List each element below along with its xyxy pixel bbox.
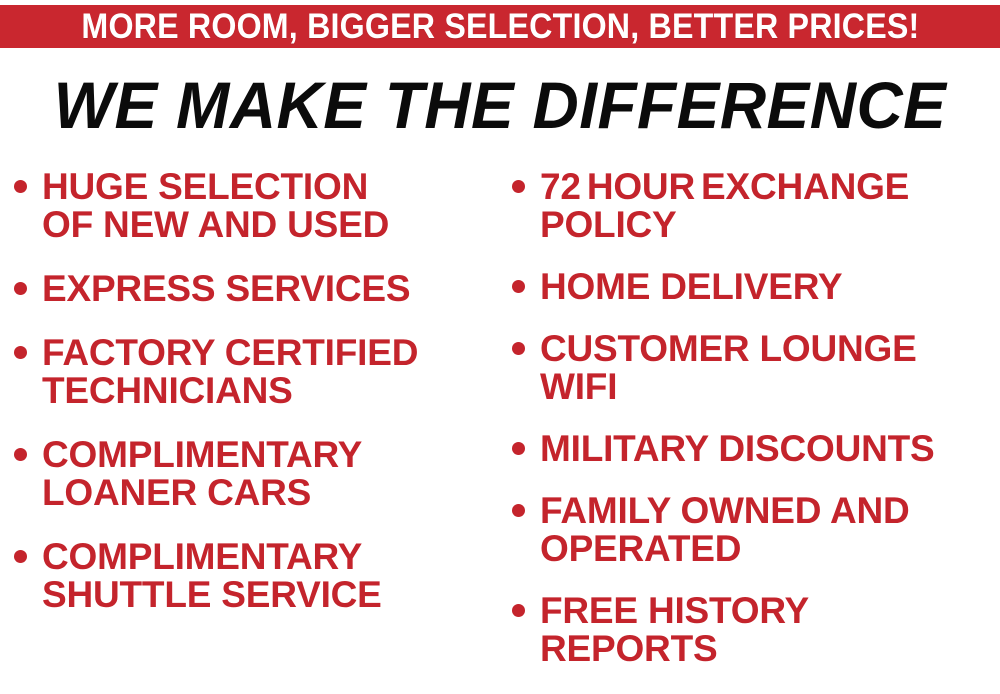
list-item-label: HOME DELIVERY xyxy=(540,268,1000,306)
list-item: FREE HISTORY REPORTS xyxy=(512,592,1000,668)
bullet-dot-icon xyxy=(512,280,525,293)
list-item: HUGE SELECTION OF NEW AND USED xyxy=(14,168,500,244)
benefits-columns: HUGE SELECTION OF NEW AND USED EXPRESS S… xyxy=(0,162,1000,694)
list-item-label: HUGE SELECTION OF NEW AND USED xyxy=(42,168,500,244)
list-item: CUSTOMER LOUNGE WIFI xyxy=(512,330,1000,406)
list-item: EXPRESS SERVICES xyxy=(14,270,500,308)
list-item: FACTORY CERTIFIED TECHNICIANS xyxy=(14,334,500,410)
bullet-dot-icon xyxy=(14,448,27,461)
benefits-column-right: 72 HOUR EXCHANGE POLICY HOME DELIVERY CU… xyxy=(500,162,1000,692)
list-item: FAMILY OWNED AND OPERATED xyxy=(512,492,1000,568)
list-item-label: MILITARY DISCOUNTS xyxy=(540,430,1000,468)
list-item-label: CUSTOMER LOUNGE WIFI xyxy=(540,330,1000,406)
list-item-label: COMPLIMENTARY SHUTTLE SERVICE xyxy=(42,538,500,614)
list-item: COMPLIMENTARY SHUTTLE SERVICE xyxy=(14,538,500,614)
list-item: HOME DELIVERY xyxy=(512,268,1000,306)
bullet-dot-icon xyxy=(512,180,525,193)
page-title: WE MAKE THE DIFFERENCE xyxy=(15,72,985,138)
list-item: MILITARY DISCOUNTS xyxy=(512,430,1000,468)
headline-banner: MORE ROOM, BIGGER SELECTION, BETTER PRIC… xyxy=(0,5,1000,48)
bullet-dot-icon xyxy=(14,282,27,295)
list-item-label: 72 HOUR EXCHANGE POLICY xyxy=(540,168,1000,244)
promotional-poster: MORE ROOM, BIGGER SELECTION, BETTER PRIC… xyxy=(0,0,1000,694)
list-item-label: FREE HISTORY REPORTS xyxy=(540,592,1000,668)
banner-text: MORE ROOM, BIGGER SELECTION, BETTER PRIC… xyxy=(81,9,919,44)
list-item-label: EXPRESS SERVICES xyxy=(42,270,500,308)
bullet-dot-icon xyxy=(512,442,525,455)
bullet-dot-icon xyxy=(512,504,525,517)
list-item-label: FAMILY OWNED AND OPERATED xyxy=(540,492,1000,568)
bullet-dot-icon xyxy=(14,346,27,359)
list-item-label: COMPLIMENTARY LOANER CARS xyxy=(42,436,500,512)
list-item-label: FACTORY CERTIFIED TECHNICIANS xyxy=(42,334,500,410)
bullet-dot-icon xyxy=(512,342,525,355)
list-item: 72 HOUR EXCHANGE POLICY xyxy=(512,168,1000,244)
list-item: COMPLIMENTARY LOANER CARS xyxy=(14,436,500,512)
bullet-dot-icon xyxy=(14,180,27,193)
bullet-dot-icon xyxy=(14,550,27,563)
benefits-column-left: HUGE SELECTION OF NEW AND USED EXPRESS S… xyxy=(0,162,500,640)
bullet-dot-icon xyxy=(512,604,525,617)
